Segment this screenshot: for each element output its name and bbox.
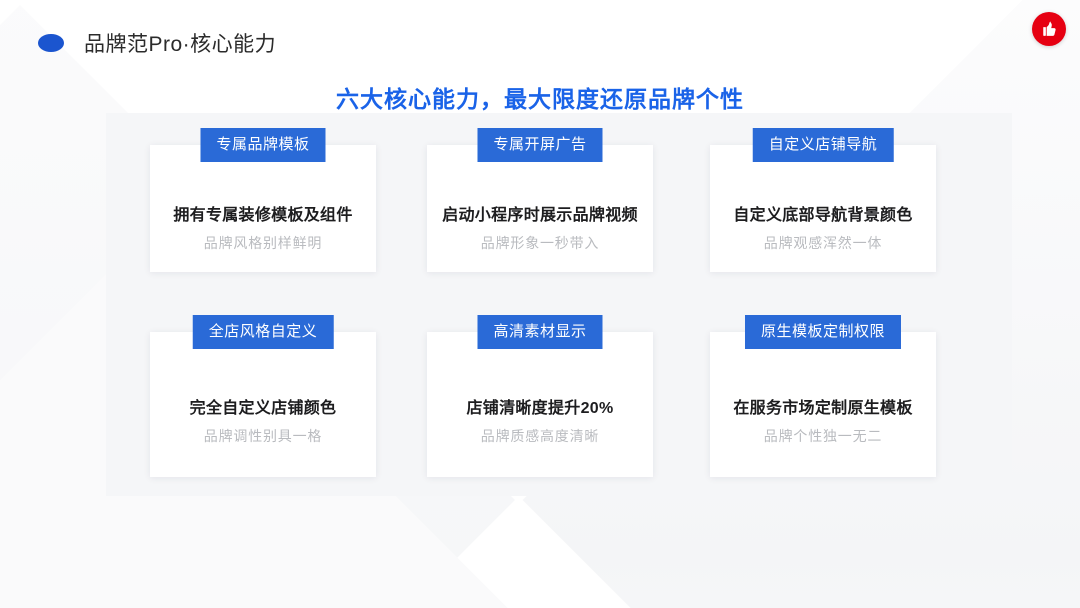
card-headline: 完全自定义店铺颜色: [150, 394, 376, 418]
card-subline: 品牌风格别样鲜明: [150, 233, 376, 253]
card-badge: 全店风格自定义: [193, 315, 334, 349]
capability-card-6[interactable]: 原生模板定制权限 在服务市场定制原生模板 品牌个性独一无二: [710, 332, 936, 477]
card-headline: 在服务市场定制原生模板: [710, 394, 936, 418]
card-subline: 品牌观感浑然一体: [710, 233, 936, 253]
capability-card-1[interactable]: 专属品牌模板 拥有专属装修模板及组件 品牌风格别样鲜明: [150, 145, 376, 272]
card-headline: 拥有专属装修模板及组件: [150, 201, 376, 225]
card-badge: 高清素材显示: [477, 315, 602, 349]
card-subline: 品牌个性独一无二: [710, 426, 936, 446]
card-headline: 自定义底部导航背景颜色: [710, 201, 936, 225]
card-subline: 品牌形象一秒带入: [427, 233, 653, 253]
header-title: 品牌范Pro·核心能力: [84, 28, 276, 58]
card-badge: 自定义店铺导航: [753, 128, 894, 162]
slide-canvas: 品牌范Pro·核心能力 六大核心能力，最大限度还原品牌个性 专属品牌模板 拥有专…: [0, 0, 1080, 608]
card-subline: 品牌质感高度清晰: [427, 426, 653, 446]
capability-card-3[interactable]: 自定义店铺导航 自定义底部导航背景颜色 品牌观感浑然一体: [710, 145, 936, 272]
card-badge: 原生模板定制权限: [745, 315, 901, 349]
blue-ellipse-logo-icon: [38, 34, 64, 52]
card-subline: 品牌调性别具一格: [150, 426, 376, 446]
card-headline: 启动小程序时展示品牌视频: [427, 201, 653, 225]
capability-card-2[interactable]: 专属开屏广告 启动小程序时展示品牌视频 品牌形象一秒带入: [427, 145, 653, 272]
capability-card-5[interactable]: 高清素材显示 店铺清晰度提升20% 品牌质感高度清晰: [427, 332, 653, 477]
slide-header: 品牌范Pro·核心能力: [0, 0, 1080, 86]
card-badge: 专属开屏广告: [477, 128, 602, 162]
capability-card-4[interactable]: 全店风格自定义 完全自定义店铺颜色 品牌调性别具一格: [150, 332, 376, 477]
card-badge: 专属品牌模板: [200, 128, 325, 162]
capability-card-grid: 专属品牌模板 拥有专属装修模板及组件 品牌风格别样鲜明 专属开屏广告 启动小程序…: [106, 113, 1012, 496]
card-headline: 店铺清晰度提升20%: [427, 394, 653, 418]
